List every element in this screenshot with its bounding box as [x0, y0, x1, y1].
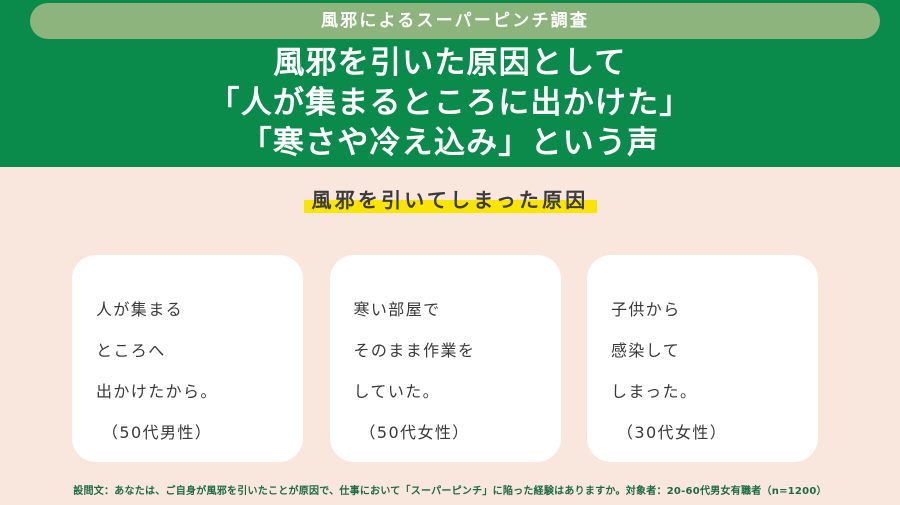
quote-line: 出かけたから。 [96, 371, 303, 412]
quote-line: しまった。 [611, 371, 818, 412]
quote-line: 人が集まる [96, 289, 303, 330]
quote-line: していた。 [354, 371, 561, 412]
section-heading-label: 風邪を引いてしまった原因 [312, 188, 589, 212]
headline-line-2: 「人が集まるところに出かけた」 [0, 83, 900, 123]
quote-card: 人が集まる ところへ 出かけたから。 （50代男性） [72, 255, 303, 462]
quote-attribution: （50代男性） [96, 412, 303, 453]
infographic-poster: 風邪によるスーパーピンチ調査 風邪を引いた原因として 「人が集まるところに出かけ… [0, 0, 900, 505]
headline-line-1: 風邪を引いた原因として [0, 43, 900, 83]
quote-line: ところへ [96, 330, 303, 371]
quote-card: 子供から 感染して しまった。 （30代女性） [587, 255, 818, 462]
quote-line: 寒い部屋で [354, 289, 561, 330]
headline: 風邪を引いた原因として 「人が集まるところに出かけた」 「寒さや冷え込み」という… [0, 43, 900, 163]
header-band: 風邪によるスーパーピンチ調査 風邪を引いた原因として 「人が集まるところに出かけ… [0, 0, 900, 167]
quote-card: 寒い部屋で そのまま作業を していた。 （50代女性） [330, 255, 561, 462]
quote-line: 子供から [611, 289, 818, 330]
survey-badge: 風邪によるスーパーピンチ調査 [30, 3, 880, 39]
quote-line: 感染して [611, 330, 818, 371]
survey-badge-label: 風邪によるスーパーピンチ調査 [321, 13, 589, 30]
section-heading-wrapper: 風邪を引いてしまった原因 [304, 186, 597, 214]
quote-line: そのまま作業を [354, 330, 561, 371]
headline-line-3: 「寒さや冷え込み」という声 [0, 123, 900, 163]
section-heading: 風邪を引いてしまった原因 [0, 186, 900, 214]
quote-card-list: 人が集まる ところへ 出かけたから。 （50代男性） 寒い部屋で そのまま作業を… [72, 255, 818, 462]
survey-methodology-text: 設問文：あなたは、ご自身が風邪を引いたことが原因で、仕事において「スーパーピンチ… [73, 486, 827, 497]
quote-attribution: （30代女性） [611, 412, 818, 453]
quote-attribution: （50代女性） [354, 412, 561, 453]
footer-note: 設問文：あなたは、ご自身が風邪を引いたことが原因で、仕事において「スーパーピンチ… [0, 479, 900, 499]
